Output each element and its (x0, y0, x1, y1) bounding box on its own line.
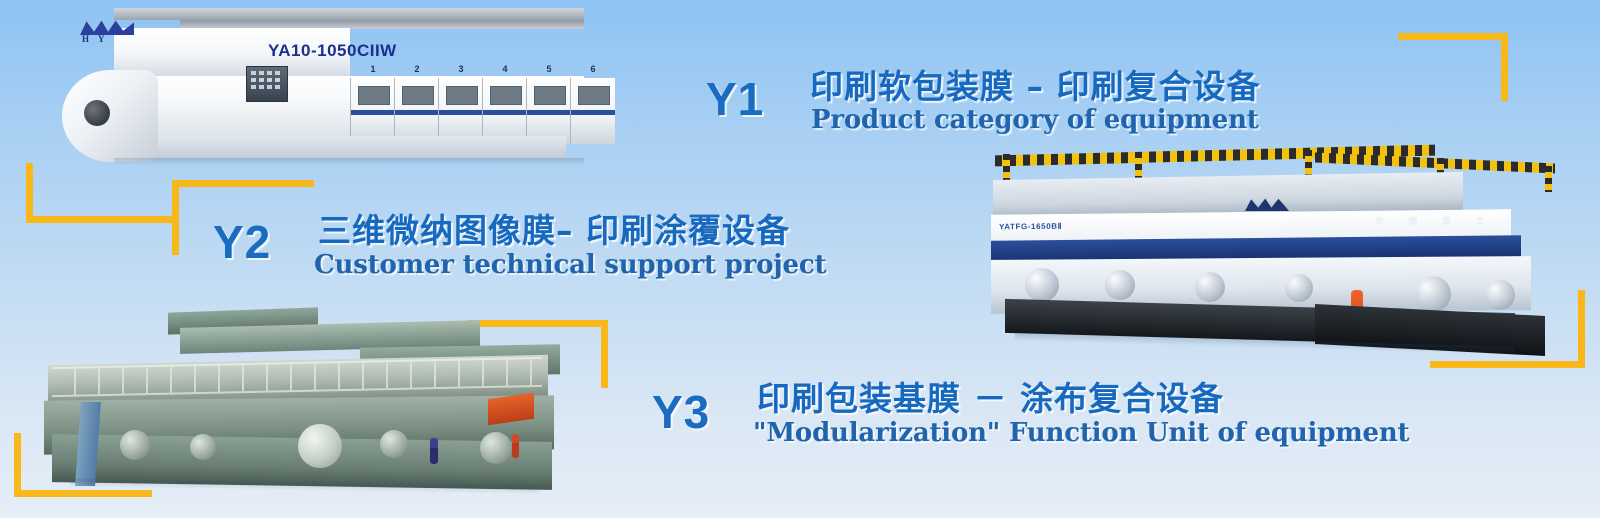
press-model-label: YA10-1050CIIW (268, 42, 397, 60)
press-unit-3: 3 (438, 78, 483, 144)
press-unit-number-2: 2 (395, 64, 439, 74)
press-unit-stripe (483, 110, 527, 115)
press-control-panel (246, 66, 288, 102)
press-unit-stripe (439, 110, 483, 115)
line-drum-2 (190, 434, 216, 460)
safety-rail-right (1315, 153, 1555, 174)
coater-roller-1 (1025, 268, 1059, 302)
press-unit-panel (578, 86, 610, 105)
line-drum-4 (480, 432, 512, 464)
press-unit-stripe (395, 110, 439, 115)
coater-roller-3 (1195, 272, 1225, 302)
press-unit-2: 2 (394, 78, 439, 144)
bracket-y2-horizontal (172, 180, 314, 187)
bracket-top-right-vertical (1501, 33, 1508, 101)
press-unit-stripe (351, 110, 395, 115)
bracket-top-right-horizontal (1398, 33, 1508, 40)
line-drum-3 (380, 430, 408, 458)
entry-y1-chinese-title: 印刷软包装膜 – 印刷复合设备 (810, 69, 1260, 105)
press-ground-shadow (114, 158, 584, 165)
safety-post-5 (1545, 166, 1552, 192)
line-main-roll (298, 424, 342, 468)
press-unit-panel (534, 86, 566, 105)
line-drum-1 (120, 430, 150, 460)
machine-photo-rotogravure-press: HY YA10-1050CIIW 1 2 3 4 5 (62, 8, 602, 176)
press-unit-panel (402, 86, 434, 105)
line-operator-1 (430, 438, 438, 464)
press-top-rail (114, 8, 584, 20)
press-unwind-reel (62, 70, 158, 162)
machine-photo-coating-laminating-line: YATFG-1650BⅡ 华 南 富 士 (985, 150, 1585, 370)
entry-y2-chinese-title: 三维微纳图像膜– 印刷涂覆设备 (318, 213, 790, 249)
press-unit-4: 4 (482, 78, 527, 144)
press-unit-number-4: 4 (483, 64, 527, 74)
coater-roller-6 (1485, 280, 1515, 310)
line-operator-2 (512, 434, 519, 458)
coater-roller-4 (1285, 274, 1313, 302)
coater-brand-label: 华 南 富 士 (1375, 215, 1496, 226)
press-unit-number-5: 5 (527, 64, 571, 74)
hy-logo-icon (80, 20, 134, 35)
press-unit-6: 6 (570, 78, 615, 144)
press-reel-hub (84, 100, 110, 126)
coater-roller-5 (1415, 276, 1451, 312)
press-unit-number-3: 3 (439, 64, 483, 74)
entry-y2-code: Y2 (213, 219, 271, 265)
banner-root: HY YA10-1050CIIW 1 2 3 4 5 (0, 0, 1600, 518)
press-unit-number-1: 1 (351, 64, 395, 74)
press-brand-label: HY (82, 34, 134, 44)
entry-y3-chinese-title: 印刷包装基膜 － 涂布复合设备 (757, 381, 1224, 417)
press-unit-1: 1 (350, 78, 395, 144)
bracket-top-left-vertical (26, 163, 33, 223)
entry-y3-english-subtitle: "Modularization" Function Unit of equipm… (753, 419, 1409, 447)
coater-model-label: YATFG-1650BⅡ (999, 222, 1062, 232)
bracket-bottom-left-vertical (14, 433, 21, 497)
bracket-y2-vertical (172, 180, 179, 255)
press-brand-logo: HY (72, 20, 144, 46)
bracket-y3-vertical (601, 320, 608, 388)
entry-y1-code: Y1 (706, 76, 764, 122)
entry-y2-english-subtitle: Customer technical support project (314, 251, 826, 279)
bracket-top-right (1398, 33, 1508, 101)
bracket-top-left-horizontal (26, 216, 176, 223)
press-unit-stripe (571, 110, 615, 115)
press-unit-5: 5 (526, 78, 571, 144)
machine-photo-base-film-coating-line (30, 310, 575, 492)
press-unit-panel (446, 86, 478, 105)
press-unit-number-6: 6 (571, 64, 615, 74)
press-unit-panel (490, 86, 522, 105)
entry-y3-code: Y3 (652, 389, 710, 435)
coater-roller-2 (1105, 270, 1135, 300)
press-base-frame (118, 136, 566, 158)
press-unit-panel (358, 86, 390, 105)
entry-y1-english-subtitle: Product category of equipment (811, 106, 1259, 134)
press-unit-stripe (527, 110, 571, 115)
